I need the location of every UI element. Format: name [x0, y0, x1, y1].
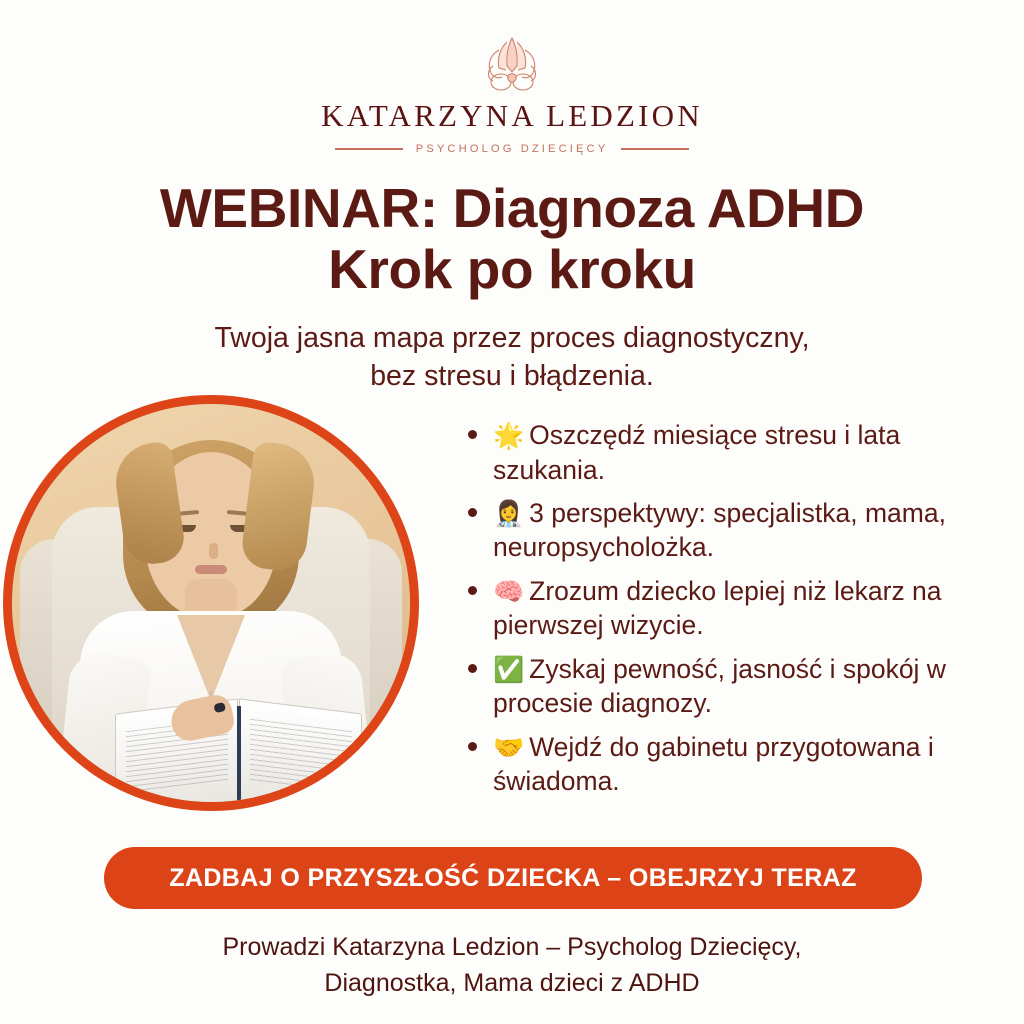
headline-line-2: Krok po kroku — [0, 239, 1024, 300]
brand-logo-block: KATARZYNA LEDZION PSYCHOLOG DZIECIĘCY — [0, 32, 1024, 155]
footer-line-1: Prowadzi Katarzyna Ledzion – Psycholog D… — [223, 933, 802, 961]
benefit-label: Oszczędź miesiące stresu i lata szukania… — [493, 420, 900, 485]
handshake-emoji: 🤝 — [493, 734, 524, 762]
brain-emoji: 🧠 — [493, 578, 524, 606]
page-title: WEBINAR: Diagnoza ADHD Krok po kroku — [0, 178, 1024, 299]
benefit-label: Zrozum dziecko lepiej niż lekarz na pier… — [493, 576, 942, 641]
glowing-star-emoji: 🌟 — [493, 422, 524, 450]
book-spine — [237, 706, 241, 802]
benefit-text: 👩‍⚕️3 perspektywy: specjalistka, mama, n… — [493, 496, 974, 565]
list-item: 👩‍⚕️3 perspektywy: specjalistka, mama, n… — [462, 496, 974, 565]
book-page-right — [239, 699, 362, 802]
page-subtitle: Twoja jasna mapa przez proces diagnostyc… — [0, 320, 1024, 396]
check-mark-button-emoji: ✅ — [493, 656, 524, 684]
tagline-rule-right — [621, 148, 689, 149]
benefit-label: Wejdź do gabinetu przygotowana i świadom… — [493, 732, 934, 797]
subtitle-line-2: bez stresu i błądzenia. — [0, 358, 1024, 396]
benefit-label: 3 perspektywy: specjalistka, mama, neuro… — [493, 498, 946, 563]
benefit-text: 🧠Zrozum dziecko lepiej niż lekarz na pie… — [493, 574, 974, 643]
bullet-dot — [468, 508, 477, 517]
blouse-collar — [177, 615, 245, 701]
bullet-dot — [468, 742, 477, 751]
cta-button[interactable]: ZADBAJ O PRZYSZŁOŚĆ DZIECKA – OBEJRZYJ T… — [104, 847, 922, 909]
brain-flower-logo-icon — [475, 32, 549, 94]
list-item: 🧠Zrozum dziecko lepiej niż lekarz na pie… — [462, 574, 974, 643]
open-book — [115, 706, 362, 802]
list-item: 🤝Wejdź do gabinetu przygotowana i świado… — [462, 730, 974, 799]
bullet-dot — [468, 430, 477, 439]
benefit-label: Zyskaj pewność, jasność i spokój w proce… — [493, 654, 946, 719]
nose — [209, 543, 218, 559]
lips — [195, 565, 227, 574]
list-item: 🌟Oszczędź miesiące stresu i lata szukani… — [462, 418, 974, 487]
benefit-text: ✅Zyskaj pewność, jasność i spokój w proc… — [493, 652, 974, 721]
bullet-dot — [468, 586, 477, 595]
presenter-photo — [3, 395, 419, 811]
benefit-text: 🤝Wejdź do gabinetu przygotowana i świado… — [493, 730, 974, 799]
bullet-dot — [468, 664, 477, 673]
benefit-text: 🌟Oszczędź miesiące stresu i lata szukani… — [493, 418, 974, 487]
headline-line-1: WEBINAR: Diagnoza ADHD — [160, 177, 864, 239]
benefits-list: 🌟Oszczędź miesiące stresu i lata szukani… — [462, 418, 974, 808]
fingernail — [214, 702, 227, 713]
woman-health-worker-emoji: 👩‍⚕️ — [493, 500, 524, 528]
subtitle-line-1: Twoja jasna mapa przez proces diagnostyc… — [214, 322, 809, 354]
brand-name: KATARZYNA LEDZION — [321, 98, 703, 134]
tagline-rule-left — [335, 148, 403, 149]
presenter-photo-image — [12, 404, 410, 802]
brand-tagline-row: PSYCHOLOG DZIECIĘCY — [335, 143, 690, 155]
presenter-credit: Prowadzi Katarzyna Ledzion – Psycholog D… — [0, 930, 1024, 1001]
brand-tagline: PSYCHOLOG DZIECIĘCY — [416, 143, 609, 155]
list-item: ✅Zyskaj pewność, jasność i spokój w proc… — [462, 652, 974, 721]
footer-line-2: Diagnostka, Mama dzieci z ADHD — [0, 966, 1024, 1002]
book-text-lines-right — [250, 719, 352, 796]
